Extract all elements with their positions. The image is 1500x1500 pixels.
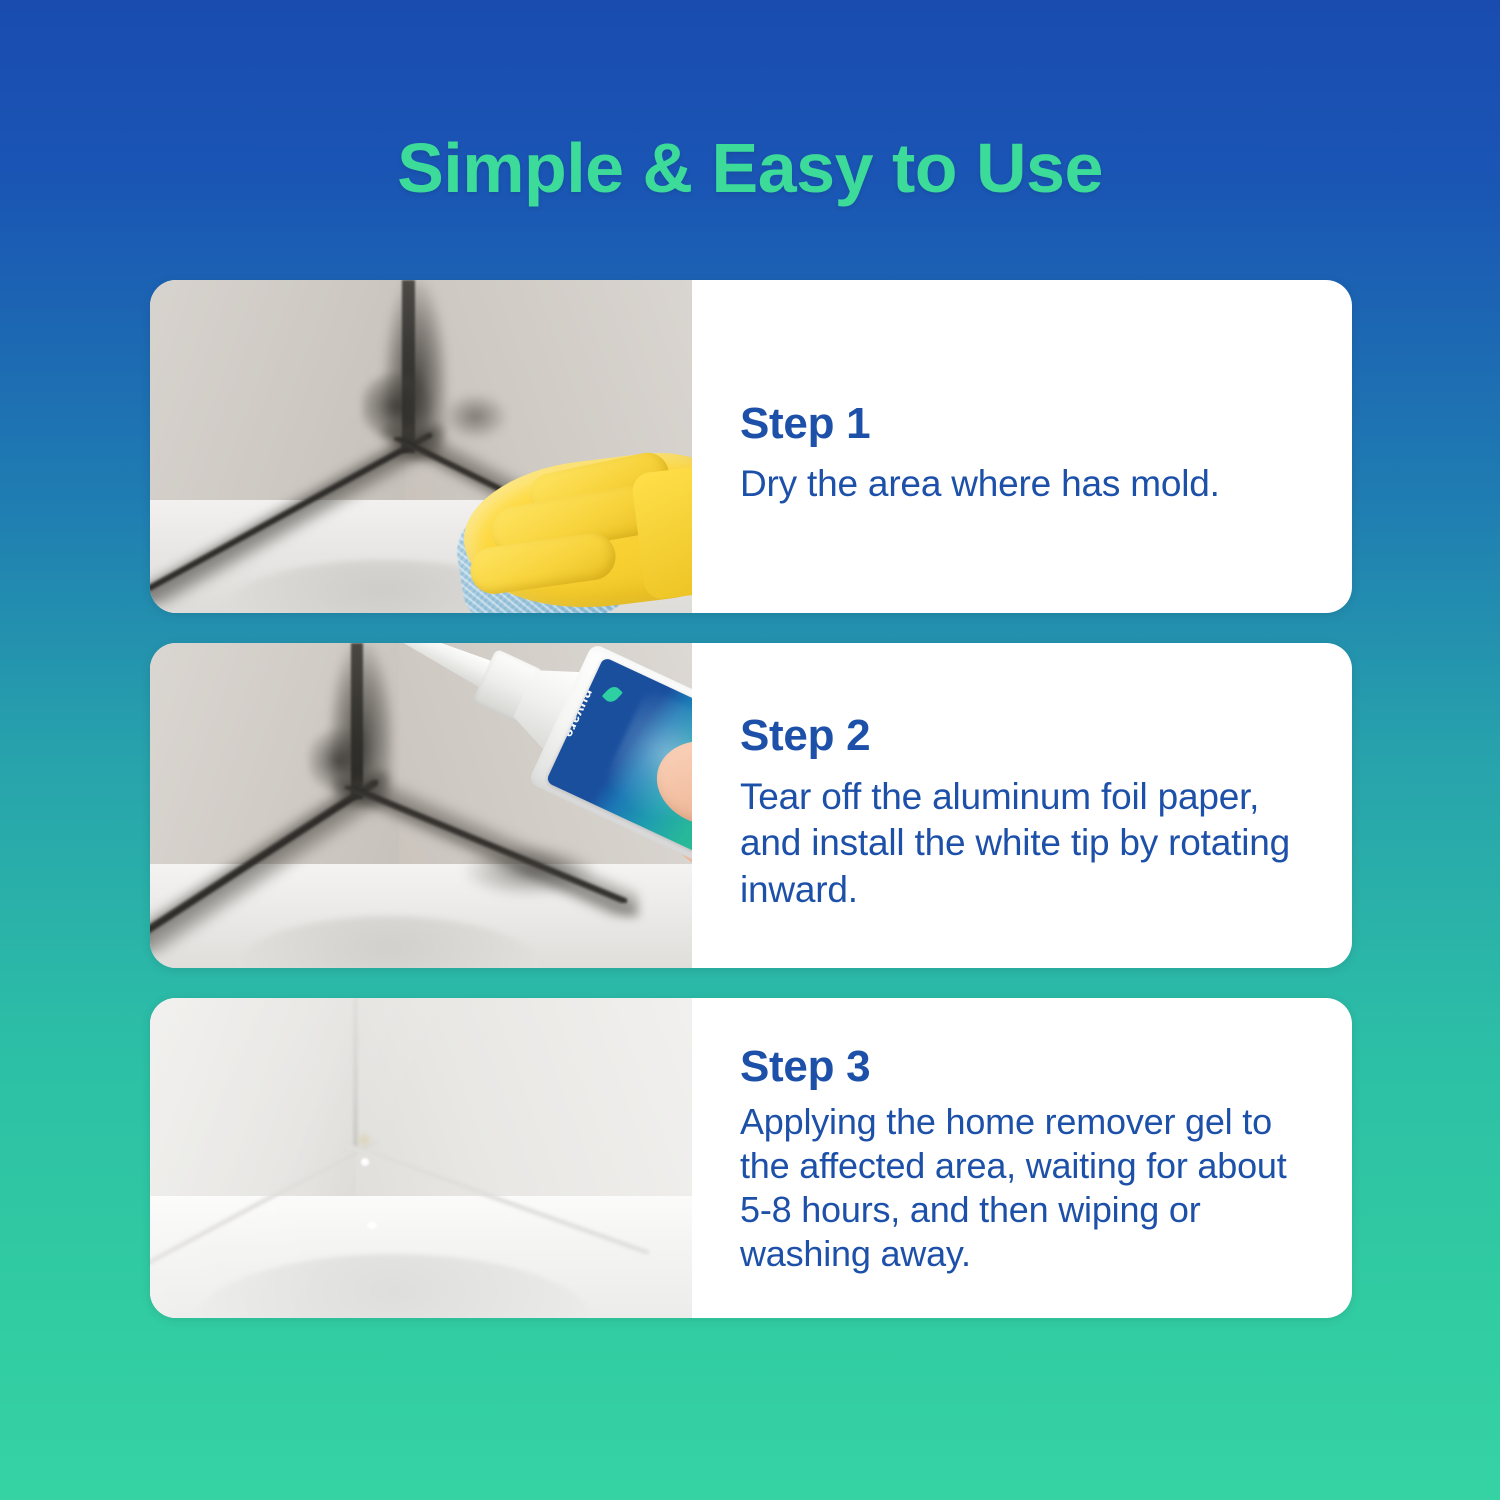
leaf-logo-icon [601,683,622,704]
step-card-2: nuvare N CLEANER 99% Step 2 Tear off the… [150,643,1352,968]
caulk-seam-right [345,1145,649,1254]
step-2-body: Step 2 Tear off the aluminum foil paper,… [692,643,1352,968]
step-card-1: Step 1 Dry the area where has mold. [150,280,1352,613]
header: Simple & Easy to Use [0,132,1500,206]
mold-patch-right [464,845,594,897]
step-3-title: Step 3 [740,1044,1312,1090]
step-1-photo [150,280,692,613]
step-2-title: Step 2 [740,713,1312,759]
highlight-glint [367,1222,377,1229]
step-card-3: Step 3 Applying the home remover gel to … [150,998,1352,1318]
mold-patch-right [443,393,508,440]
step-3-photo [150,998,692,1318]
step-1-description: Dry the area where has mold. [740,461,1312,508]
mold-patch-upper [361,373,431,440]
step-1-body: Step 1 Dry the area where has mold. [692,280,1352,613]
mold-corner-wiping-image [150,280,692,613]
residual-spot [356,1132,372,1148]
step-3-body: Step 3 Applying the home remover gel to … [692,998,1352,1318]
step-1-title: Step 1 [740,401,1312,447]
steps-list: Step 1 Dry the area where has mold. [150,280,1352,1318]
step-3-description: Applying the home remover gel to the aff… [740,1100,1312,1276]
clean-corner-image [150,998,692,1318]
bottle-application-image: nuvare N CLEANER 99% [150,643,692,968]
caulk-seam-vertical [353,998,358,1152]
caulk-seam-left [150,1139,378,1267]
page-title: Simple & Easy to Use [0,132,1500,206]
step-2-photo: nuvare N CLEANER 99% [150,643,692,968]
step-2-description: Tear off the aluminum foil paper, and in… [740,774,1312,914]
